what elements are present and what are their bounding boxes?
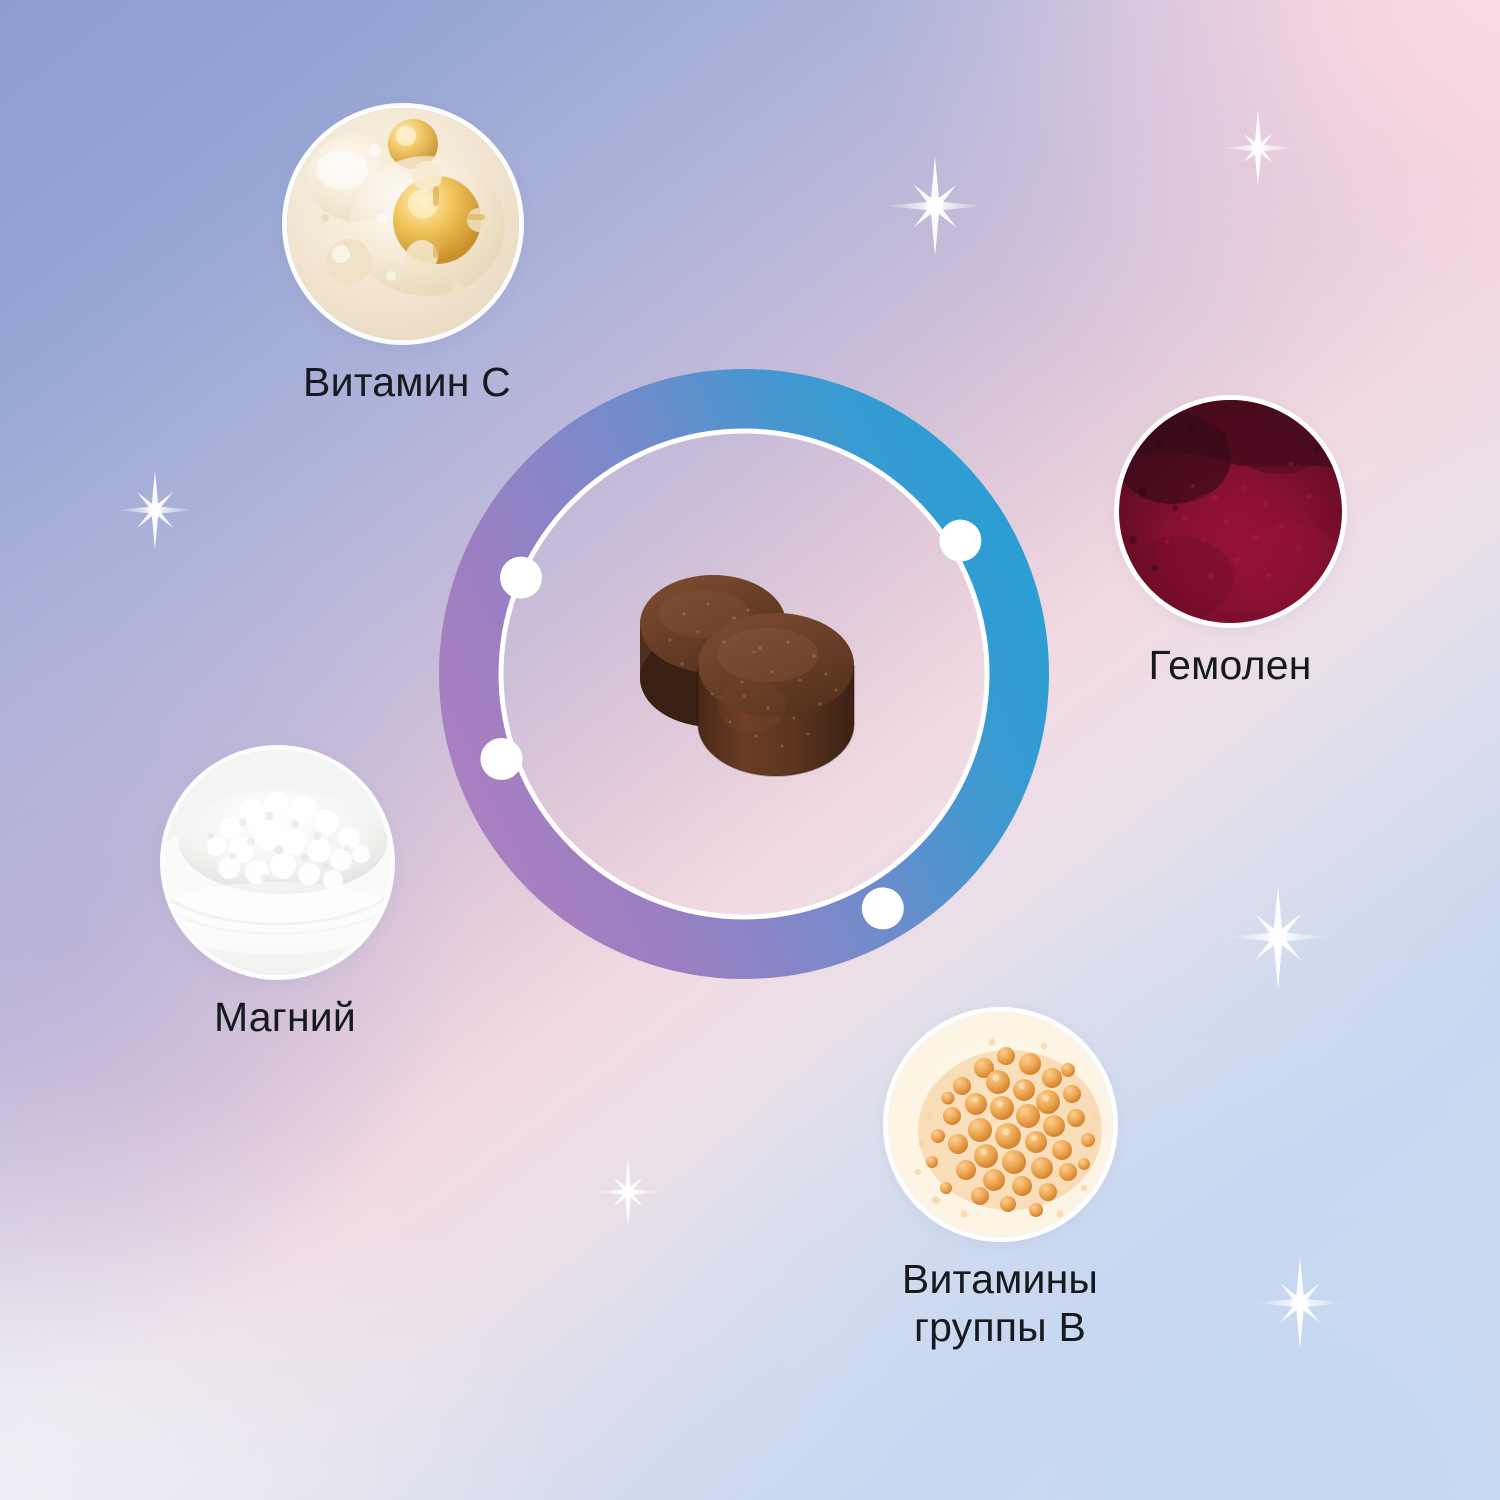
ingredient-magnesium[interactable]: Магний — [165, 750, 405, 1041]
infographic-canvas: Витамин С — [0, 0, 1500, 1500]
b-vitamins-label: Витамины группы B — [860, 1255, 1140, 1352]
sparkle-bottom-center — [590, 1154, 666, 1230]
hemolen-label: Гемолен — [1105, 641, 1355, 689]
magnesium-label: Магний — [165, 993, 405, 1041]
sparkle-right-bottom — [1250, 1253, 1350, 1353]
ingredient-hemolen[interactable]: Гемолен — [1105, 400, 1355, 689]
product-tablets — [612, 556, 882, 794]
serum-drops-icon — [287, 108, 519, 340]
sparkle-top-center-right — [881, 152, 989, 260]
sparkle-left-mid — [112, 467, 198, 553]
vitamin-c-label: Витамин С — [287, 358, 527, 406]
orbit-node-vitamin-c[interactable] — [500, 557, 542, 599]
ingredient-vitamin-c[interactable]: Витамин С — [287, 108, 527, 406]
orbit-node-hemolen[interactable] — [939, 520, 981, 562]
orange-granules-icon — [888, 1012, 1113, 1237]
white-powder-bowl-icon — [165, 750, 390, 975]
orbit-node-b-vitamins[interactable] — [862, 887, 904, 929]
red-powder-icon — [1119, 400, 1342, 623]
orbit-node-magnesium[interactable] — [480, 738, 522, 780]
hemolen-bubble — [1119, 400, 1342, 623]
ingredient-b-vitamins[interactable]: Витамины группы B — [860, 1012, 1140, 1352]
tablet-front — [698, 613, 854, 776]
b-vitamins-bubble — [888, 1012, 1113, 1237]
sparkle-right-lower — [1222, 881, 1334, 993]
magnesium-bubble — [165, 750, 390, 975]
sparkle-top-right-far — [1216, 106, 1300, 190]
vitamin-c-bubble — [287, 108, 519, 340]
